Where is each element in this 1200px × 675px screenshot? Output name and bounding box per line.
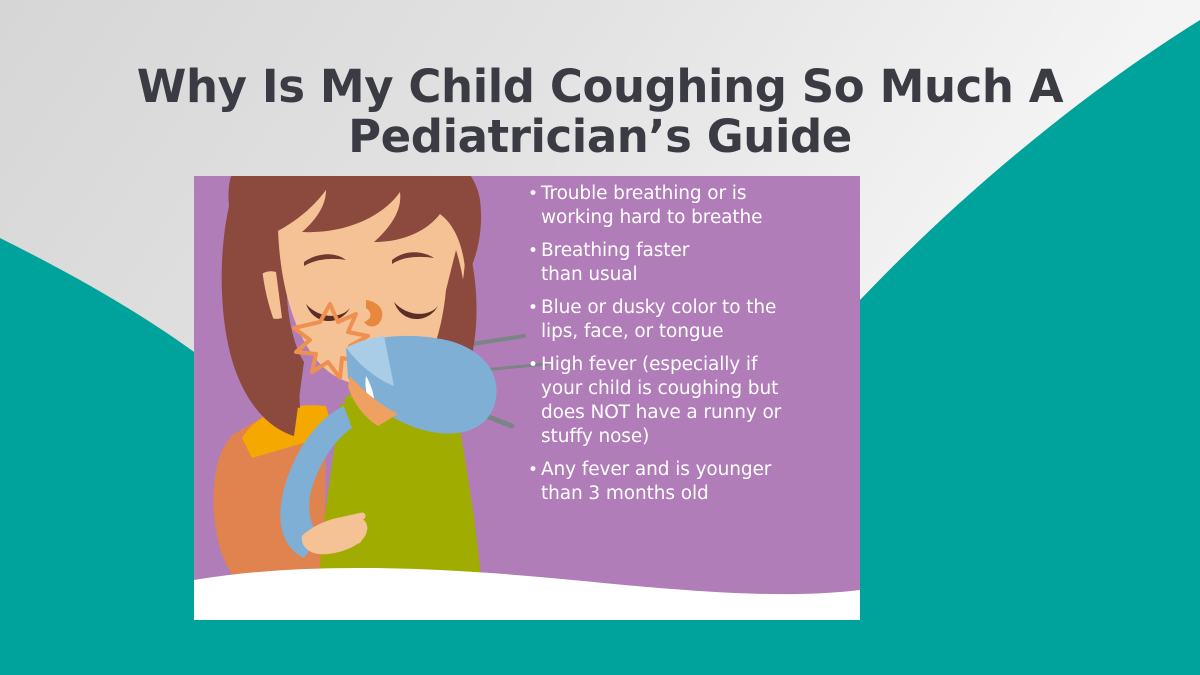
list-item-label: High fever (especially if your child is … <box>541 353 781 449</box>
list-item: • Any fever and is younger than 3 months… <box>528 458 848 506</box>
bullet-marker-icon: • <box>528 458 541 482</box>
list-item-label: Breathing faster than usual <box>541 239 689 287</box>
list-item: • Trouble breathing or is working hard t… <box>528 182 848 230</box>
bullet-marker-icon: • <box>528 239 541 263</box>
symptom-list: • Trouble breathing or is working hard t… <box>528 182 848 515</box>
list-item-label: Blue or dusky color to the lips, face, o… <box>541 296 776 344</box>
bullet-marker-icon: • <box>528 182 541 206</box>
page-title: Why Is My Child Coughing So Much A Pedia… <box>0 62 1200 162</box>
slide-canvas: Why Is My Child Coughing So Much A Pedia… <box>0 0 1200 675</box>
list-item: • Blue or dusky color to the lips, face,… <box>528 296 848 344</box>
illustration-card: • Trouble breathing or is working hard t… <box>194 176 860 620</box>
list-item: • High fever (especially if your child i… <box>528 353 848 449</box>
bullet-marker-icon: • <box>528 353 541 377</box>
list-item-label: Any fever and is younger than 3 months o… <box>541 458 771 506</box>
list-item-label: Trouble breathing or is working hard to … <box>541 182 762 230</box>
bullet-marker-icon: • <box>528 296 541 320</box>
list-item: • Breathing faster than usual <box>528 239 848 287</box>
